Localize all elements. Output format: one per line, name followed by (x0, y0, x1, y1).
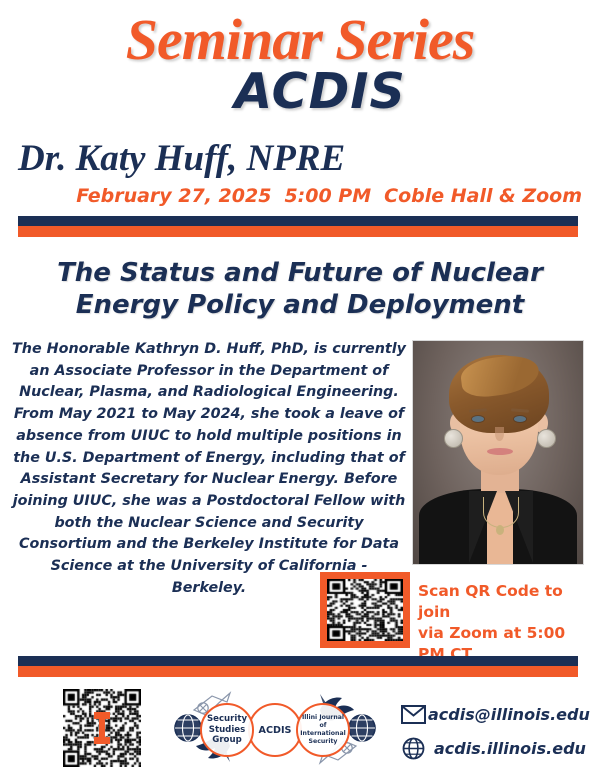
seminar-poster: Seminar Series ACDIS Dr. Katy Huff, NPRE… (0, 0, 600, 776)
acdis-qr-code[interactable] (62, 688, 142, 768)
masthead: Seminar Series ACDIS (0, 0, 600, 130)
globe-left-icon (175, 715, 201, 741)
divider-navy-bar (18, 216, 578, 226)
headshot-eye-left (472, 416, 484, 422)
headshot-necklace (483, 497, 519, 528)
headshot-pendant (496, 525, 504, 535)
envelope-icon (398, 705, 428, 724)
headshot-eye-right (514, 416, 526, 422)
divider-orange-bar (18, 226, 578, 237)
zoom-instructions-line1: Scan QR Code to join (418, 581, 596, 623)
contact-row-email[interactable]: acdis@illinois.edu (398, 697, 598, 731)
event-time: 5:00 PM (284, 185, 371, 207)
globe-icon (398, 737, 428, 760)
divider-top (18, 216, 578, 237)
divider-orange-bar (18, 666, 578, 677)
headshot-earring-left (444, 429, 463, 448)
acdis-logo: Security Studies Group ACDIS Illini Jour… (170, 688, 380, 768)
speaker-name: Dr. Katy Huff, NPRE (18, 137, 345, 180)
email-address: acdis@illinois.edu (428, 705, 590, 724)
zoom-instructions: Scan QR Code to join via Zoom at 5:00 PM… (418, 581, 596, 665)
headshot-mouth (487, 448, 513, 455)
contact-info: acdis@illinois.edu acdis.illinois.edu (398, 697, 598, 765)
logo-circle-illini-journal: Illini Journal of International Security (296, 703, 350, 757)
logo-circle-security-studies-group: Security Studies Group (200, 703, 254, 757)
divider-bottom (18, 656, 578, 677)
logo-circle-acdis: ACDIS (248, 703, 302, 757)
globe-right-icon (349, 715, 375, 741)
zoom-qr-canvas (327, 579, 403, 641)
event-location: Coble Hall & Zoom (384, 185, 582, 207)
acdis-wordmark: ACDIS (0, 63, 600, 120)
website-url: acdis.illinois.edu (428, 739, 586, 758)
illinois-block-i-stem (99, 718, 105, 738)
talk-title: The Status and Future of Nuclear Energy … (30, 258, 570, 321)
zoom-qr-code[interactable] (320, 572, 410, 648)
headshot-earring-right (537, 429, 556, 448)
illinois-block-i-logo (94, 712, 110, 744)
event-details: February 27, 20255:00 PMCoble Hall & Zoo… (0, 185, 582, 207)
divider-navy-bar (18, 656, 578, 666)
speaker-headshot (412, 340, 584, 565)
event-date: February 27, 2025 (76, 185, 271, 207)
speaker-bio: The Honorable Kathryn D. Huff, PhD, is c… (12, 339, 406, 600)
contact-row-website[interactable]: acdis.illinois.edu (398, 731, 598, 765)
headshot-nose (495, 427, 504, 441)
